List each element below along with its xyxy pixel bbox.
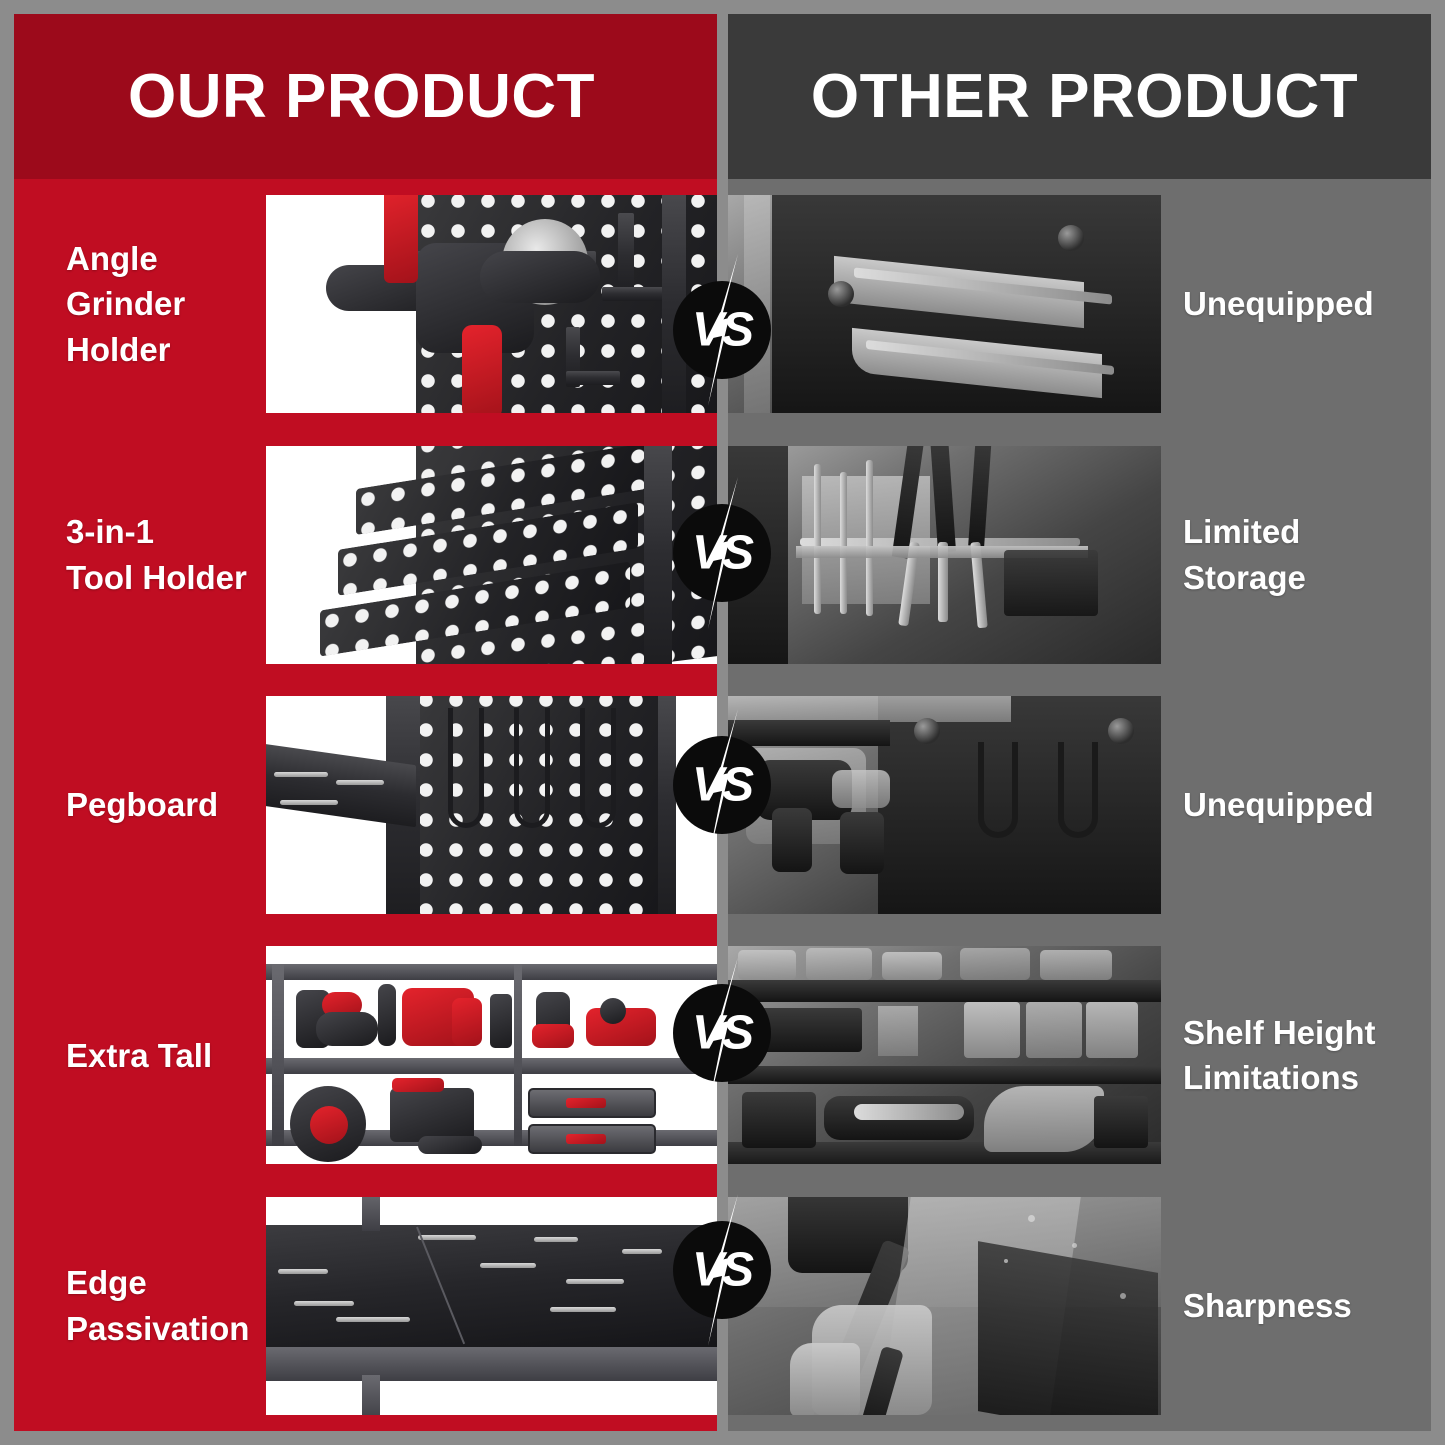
drawback-label-limited-storage: Limited Storage [1161,509,1431,600]
drawback-image-limited-storage [728,446,1161,664]
drawback-label-unequipped-2: Unequipped [1161,782,1431,828]
drawback-image-unequipped-shelf [728,195,1161,413]
row-angle-grinder-holder-right: Unequipped [728,179,1431,429]
feature-label-extra-tall: Extra Tall [14,1033,266,1079]
other-product-title: OTHER PRODUCT [811,66,1358,128]
feature-image-angle-grinder-holder [266,195,717,413]
feature-image-extra-tall [266,946,717,1164]
row-extra-tall-right: Shelf Height Limitations [728,930,1431,1180]
row-pegboard-left: Pegboard [14,680,717,930]
drawback-image-unequipped-hooks [728,696,1161,914]
feature-label-angle-grinder-holder: Angle Grinder Holder [14,236,266,373]
feature-label-pegboard: Pegboard [14,782,266,828]
drawback-image-sharpness [728,1197,1161,1415]
row-pegboard-right: Unequipped [728,680,1431,930]
drawback-image-shelf-height [728,946,1161,1164]
our-product-rows: Angle Grinder Holder [14,179,717,1431]
other-product-column: OTHER PRODUCT [728,14,1431,1431]
drawback-label-unequipped-1: Unequipped [1161,281,1431,327]
other-product-header: OTHER PRODUCT [728,14,1431,179]
comparison-infographic: OUR PRODUCT Angle Grinder Holder [0,0,1445,1445]
row-tool-holder-left: 3-in-1 Tool Holder [14,429,717,679]
row-edge-passivation-right: Sharpness [728,1181,1431,1431]
row-angle-grinder-holder-left: Angle Grinder Holder [14,179,717,429]
drawback-label-shelf-height-limitations: Shelf Height Limitations [1161,1010,1431,1101]
column-divider [717,14,728,1431]
feature-label-edge-passivation: Edge Passivation [14,1260,266,1351]
our-product-column: OUR PRODUCT Angle Grinder Holder [14,14,717,1431]
feature-image-tool-holder [266,446,717,664]
drawback-label-sharpness: Sharpness [1161,1283,1431,1329]
our-product-header: OUR PRODUCT [14,14,717,179]
feature-image-pegboard [266,696,717,914]
our-product-title: OUR PRODUCT [128,66,595,128]
feature-label-tool-holder: 3-in-1 Tool Holder [14,509,266,600]
row-extra-tall-left: Extra Tall [14,930,717,1180]
other-product-rows: Unequipped [728,179,1431,1431]
row-edge-passivation-left: Edge Passivation [14,1181,717,1431]
row-tool-holder-right: Limited Storage [728,429,1431,679]
feature-image-edge-passivation [266,1197,717,1415]
